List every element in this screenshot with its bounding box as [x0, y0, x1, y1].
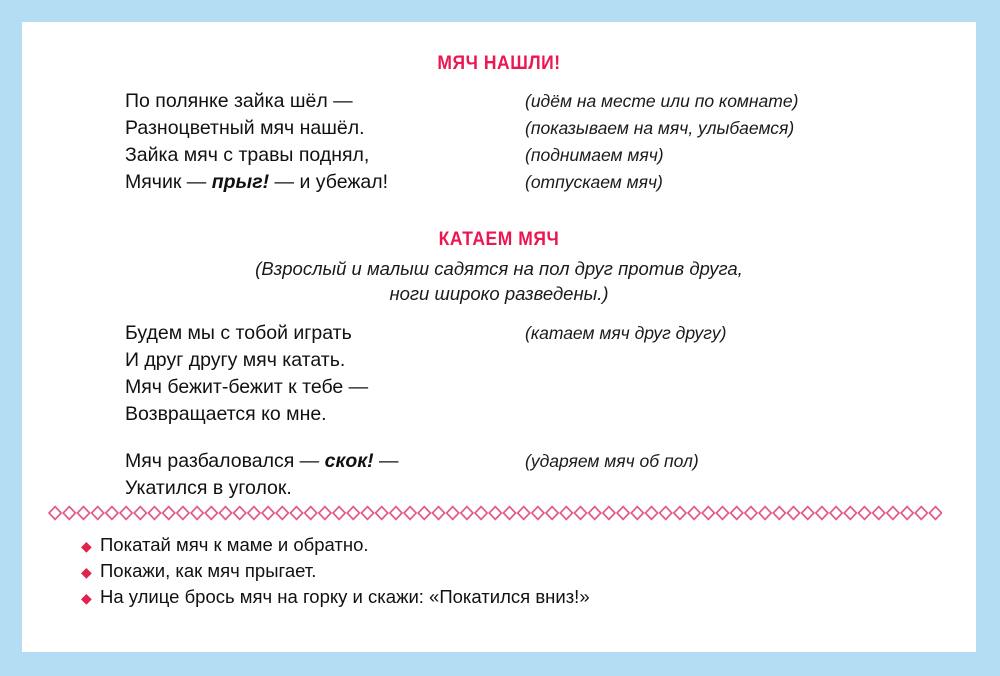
- verse-text: По полянке зайка шёл —: [125, 90, 353, 112]
- verse-cue: (катаем мяч друг другу): [525, 323, 726, 344]
- diamond-bullet-icon: ◆: [81, 565, 100, 579]
- verse-cue: (поднимаем мяч): [525, 145, 664, 166]
- verse-text-tail: — и убежал!: [269, 171, 388, 193]
- section-subtitle: (Взрослый и малыш садятся на пол друг пр…: [22, 256, 976, 306]
- subtitle-line-2: ноги широко разведены.): [22, 281, 976, 306]
- list-item: ◆ Покатай мяч к маме и обратно.: [81, 534, 946, 560]
- verse-row: Мячик — прыг! — и убежал! (отпускаем мяч…: [125, 171, 936, 198]
- verse-block-myach-nashli: По полянке зайка шёл — (идём на месте ил…: [125, 90, 936, 198]
- verse-text-tail: —: [374, 450, 399, 472]
- diamond-bullet-icon: ◆: [81, 539, 100, 553]
- verse-text: Зайка мяч с травы поднял,: [125, 144, 369, 166]
- verse-text: Мячик —: [125, 171, 212, 193]
- verse-line: Зайка мяч с травы поднял,: [125, 144, 525, 167]
- tip-text: Покатай мяч к маме и обратно.: [100, 534, 369, 556]
- verse-line: Будем мы с тобой играть: [125, 322, 525, 345]
- verse-text: Мяч бежит-бежит к тебе —: [125, 376, 368, 398]
- verse-row: Будем мы с тобой играть (катаем мяч друг…: [125, 322, 936, 349]
- verse-row: Возвращается ко мне.: [125, 403, 936, 430]
- verse-line: Возвращается ко мне.: [125, 403, 525, 426]
- verse-block-kataem-myach-2: Мяч разбаловался — скок! — (ударяем мяч …: [125, 450, 936, 504]
- verse-row: Зайка мяч с травы поднял, (поднимаем мяч…: [125, 144, 936, 171]
- verse-row: По полянке зайка шёл — (идём на месте ил…: [125, 90, 936, 117]
- verse-line: По полянке зайка шёл —: [125, 90, 525, 113]
- verse-text: Мяч разбаловался —: [125, 450, 325, 472]
- diamond-bullet-icon: ◆: [81, 591, 100, 605]
- subtitle-line-1: (Взрослый и малыш садятся на пол друг пр…: [22, 256, 976, 281]
- verse-cue: (ударяем мяч об пол): [525, 451, 699, 472]
- tip-text: На улице брось мяч на горку и скажи: «По…: [100, 586, 590, 608]
- tips-list: ◆ Покатай мяч к маме и обратно. ◆ Покажи…: [81, 534, 946, 612]
- page-content: МЯЧ НАШЛИ! По полянке зайка шёл — (идём …: [22, 22, 976, 652]
- page-sheet: МЯЧ НАШЛИ! По полянке зайка шёл — (идём …: [22, 22, 976, 652]
- verse-text: Будем мы с тобой играть: [125, 322, 352, 344]
- verse-row: Мяч бежит-бежит к тебе —: [125, 376, 936, 403]
- verse-emphasis: скок!: [325, 450, 374, 472]
- verse-line: Мяч разбаловался — скок! —: [125, 450, 525, 473]
- verse-row: Разноцветный мяч нашёл. (показываем на м…: [125, 117, 936, 144]
- verse-line: Мяч бежит-бежит к тебе —: [125, 376, 525, 399]
- worksheet-page: МЯЧ НАШЛИ! По полянке зайка шёл — (идём …: [0, 0, 1000, 676]
- verse-cue: (идём на месте или по комнате): [525, 91, 798, 112]
- verse-row: Укатился в уголок.: [125, 477, 936, 504]
- verse-line: Мячик — прыг! — и убежал!: [125, 171, 525, 194]
- verse-cue: (показываем на мяч, улыбаемся): [525, 118, 794, 139]
- verse-text: Возвращается ко мне.: [125, 403, 327, 425]
- list-item: ◆ На улице брось мяч на горку и скажи: «…: [81, 586, 946, 612]
- verse-text: Разноцветный мяч нашёл.: [125, 117, 365, 139]
- verse-line: Разноцветный мяч нашёл.: [125, 117, 525, 140]
- verse-line: И друг другу мяч катать.: [125, 349, 525, 372]
- verse-row: Мяч разбаловался — скок! — (ударяем мяч …: [125, 450, 936, 477]
- verse-block-kataem-myach: Будем мы с тобой играть (катаем мяч друг…: [125, 322, 936, 430]
- section-title-myach-nashli: МЯЧ НАШЛИ!: [60, 53, 938, 75]
- verse-line: Укатился в уголок.: [125, 477, 525, 500]
- section-title-kataem-myach: КАТАЕМ МЯЧ: [60, 229, 938, 251]
- verse-text: И друг другу мяч катать.: [125, 349, 345, 371]
- verse-text: Укатился в уголок.: [125, 477, 292, 499]
- diamond-chain-divider-icon: [48, 505, 942, 521]
- list-item: ◆ Покажи, как мяч прыгает.: [81, 560, 946, 586]
- verse-cue: (отпускаем мяч): [525, 172, 663, 193]
- verse-emphasis: прыг!: [212, 171, 269, 193]
- tip-text: Покажи, как мяч прыгает.: [100, 560, 316, 582]
- verse-row: И друг другу мяч катать.: [125, 349, 936, 376]
